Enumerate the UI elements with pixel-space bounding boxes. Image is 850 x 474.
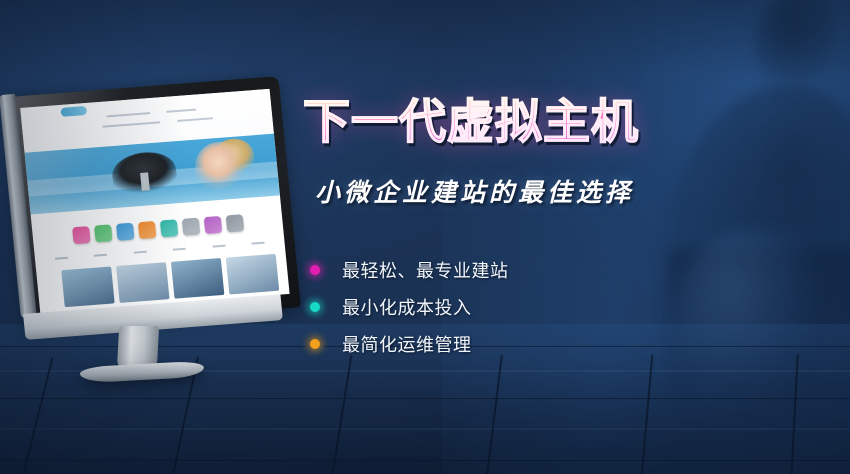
- feature-list-item-label: 最轻松、最专业建站: [342, 257, 509, 283]
- page-title: 下一代虚拟主机: [303, 96, 833, 149]
- dot-icon: [305, 335, 324, 354]
- promo-banner: 下一代虚拟主机 小微企业建站的最佳选择 最轻松、最专业建站最小化成本投入最简化运…: [0, 0, 850, 474]
- banner-content: 下一代虚拟主机 小微企业建站的最佳选择 最轻松、最专业建站最小化成本投入最简化运…: [303, 96, 833, 364]
- feature-list-item-label: 最简化运维管理: [342, 331, 472, 357]
- feature-list-item: 最轻松、最专业建站: [305, 253, 833, 288]
- feature-list-item: 最小化成本投入: [305, 290, 833, 325]
- feature-list-item-label: 最小化成本投入: [342, 294, 472, 320]
- dot-icon: [305, 261, 324, 280]
- feature-list: 最轻松、最专业建站最小化成本投入最简化运维管理: [305, 253, 833, 362]
- feature-list-item: 最简化运维管理: [305, 327, 833, 362]
- page-subtitle: 小微企业建站的最佳选择: [315, 173, 833, 209]
- dot-icon: [305, 298, 324, 317]
